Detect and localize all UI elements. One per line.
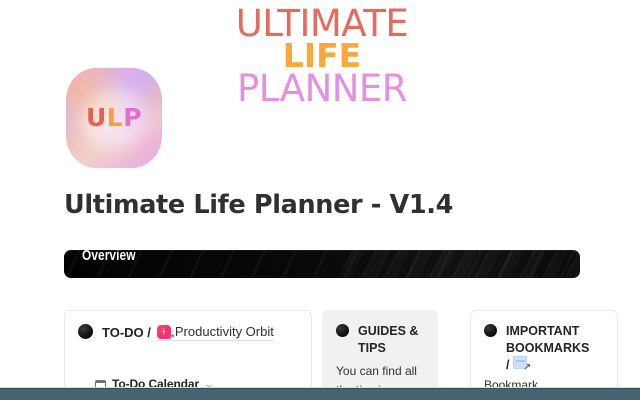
logo-letter-p: P [123,103,142,132]
black-dot-icon [78,324,93,339]
cover-title: ULTIMATE LIFE PLANNER [196,6,448,107]
ulp-logo-tile: ULP [66,68,162,168]
app-page: ULP ULTIMATE LIFE PLANNER Ultimate Life … [0,0,640,400]
ulp-logo-text: ULP [66,105,162,130]
card-todo-header: TO-DO / ↗ Productivity Orbit [65,311,311,341]
overview-banner-label: Overview [82,256,147,272]
cover-banner: ULP ULTIMATE LIFE PLANNER [0,0,640,180]
card-todo-title: TO-DO / ↗ Productivity Orbit [102,323,274,341]
card-bookmarks-header: IMPORTANT BOOKMARKS / ↗ [471,311,617,374]
black-dot-icon [484,324,497,337]
card-bookmarks-title: IMPORTANT BOOKMARKS [506,323,605,356]
lightning-bolt-icon: ↗ [157,325,171,339]
card-todo-link[interactable]: ↗ Productivity Orbit [157,323,274,341]
logo-letter-l: L [107,103,123,132]
black-dot-icon [336,324,349,337]
cover-title-line-3: PLANNER [196,71,448,107]
card-todo-title-text: TO-DO / [102,324,151,341]
external-link-arrow-icon: ↗ [167,334,175,343]
page-title: Ultimate Life Planner - V1.4 [64,190,453,220]
card-bookmarks-separator: / [506,358,509,372]
bookmark-icon: ↗ [513,356,527,369]
bottom-bar [0,388,640,400]
logo-letter-u: U [86,103,107,132]
card-guides-title: GUIDES & TIPS [358,323,425,356]
card-todo-link-label: Productivity Orbit [175,323,274,340]
external-link-arrow-icon: ↗ [523,364,531,373]
card-bookmarks-title-block: IMPORTANT BOOKMARKS / ↗ [506,323,605,374]
overview-banner[interactable]: Overview [64,250,580,278]
card-guides-header: GUIDES & TIPS [323,311,437,356]
card-bookmarks-separator-row: / ↗ [506,356,605,374]
